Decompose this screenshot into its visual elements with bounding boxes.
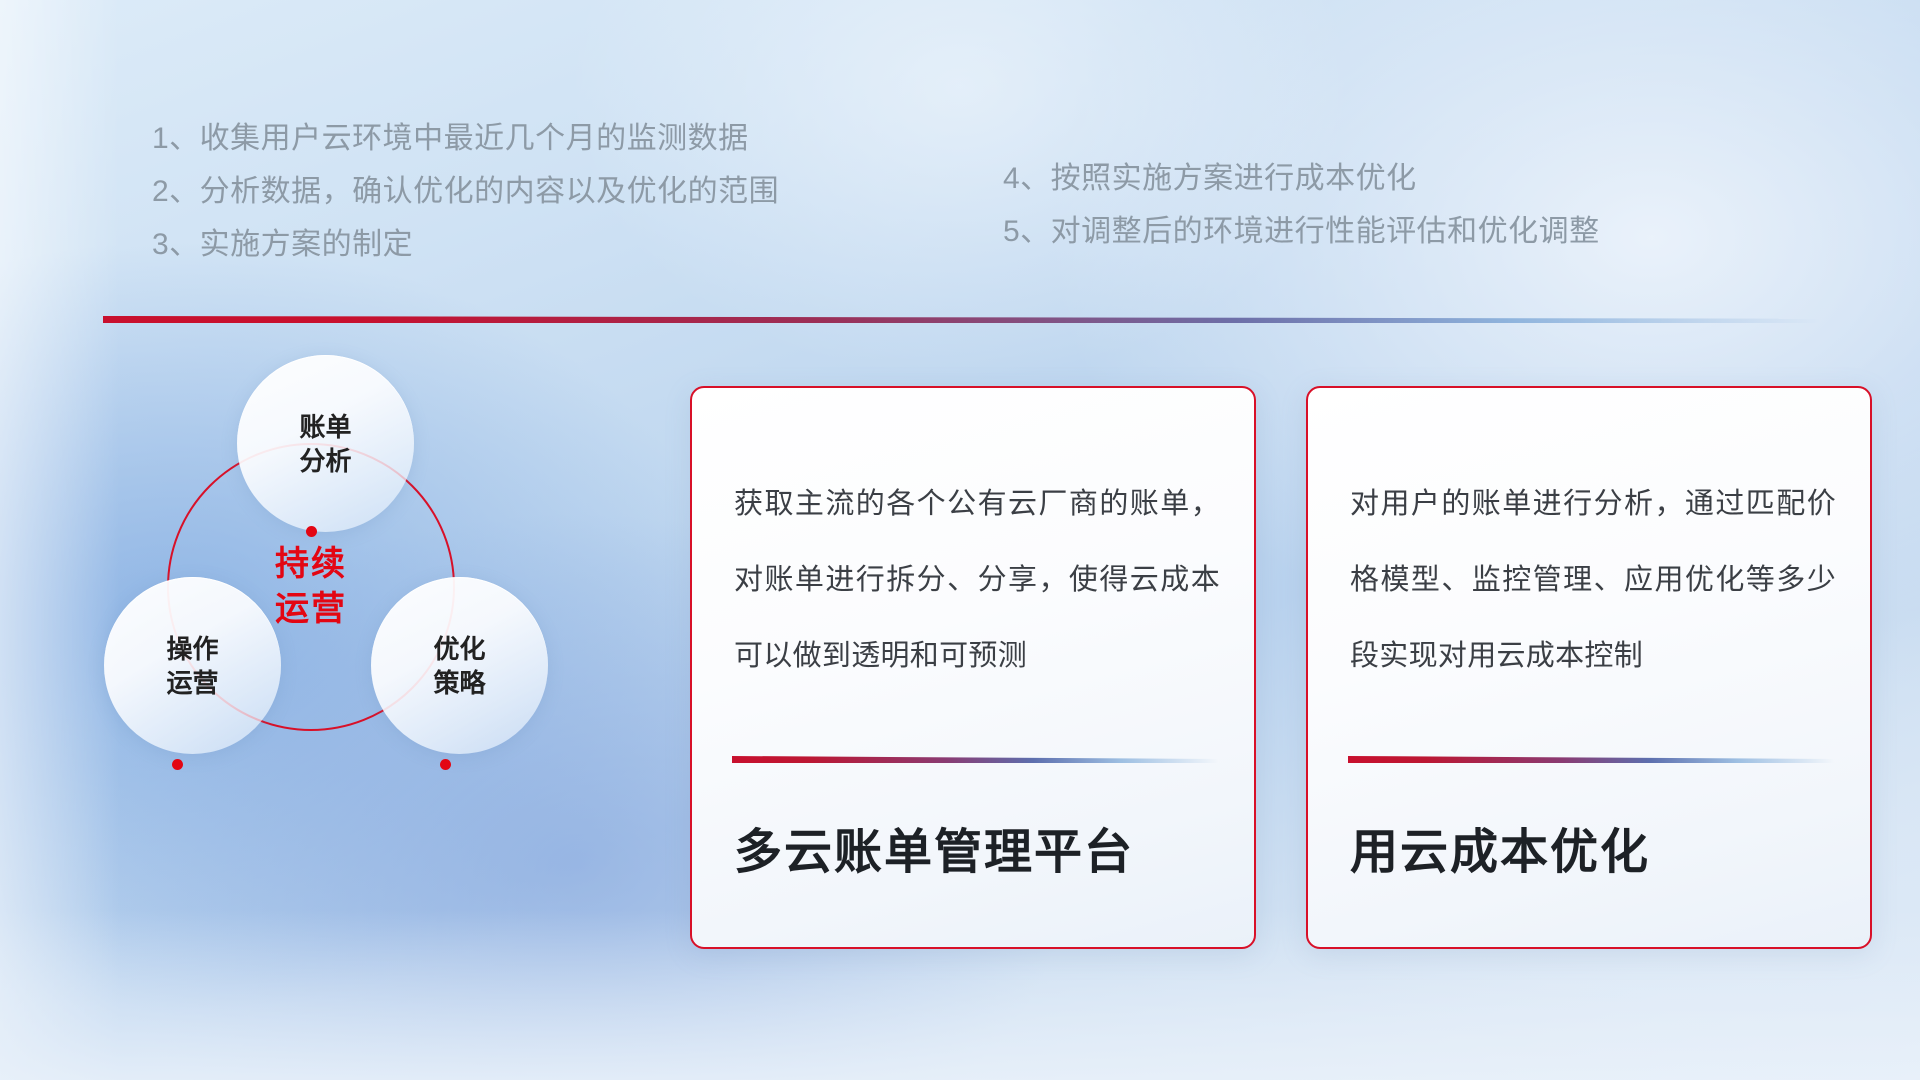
venn-center-label: 持续 运营: [167, 443, 455, 731]
step-item: 2、分析数据，确认优化的内容以及优化的范围: [152, 165, 779, 218]
step-item: 1、收集用户云环境中最近几个月的监测数据: [152, 112, 779, 165]
steps-list-right: 4、按照实施方案进行成本优化 5、对调整后的环境进行性能评估和优化调整: [1003, 152, 1600, 258]
step-item: 3、实施方案的制定: [152, 218, 779, 271]
feature-card-cloud-cost-optimization[interactable]: 对用户的账单进行分析，通过匹配价格模型、监控管理、应用优化等多少段实现对用云成本…: [1306, 386, 1872, 949]
venn-node-dot-bottom-right: [440, 759, 451, 770]
steps-section: 1、收集用户云环境中最近几个月的监测数据 2、分析数据，确认优化的内容以及优化的…: [0, 0, 1920, 300]
step-item: 4、按照实施方案进行成本优化: [1003, 152, 1600, 205]
card-accent-rule: [732, 756, 1218, 763]
card-accent-rule: [1348, 756, 1834, 763]
venn-node-dot-top: [306, 526, 317, 537]
venn-node-dot-bottom-left: [172, 759, 183, 770]
venn-diagram: 账单 分析 操作 运营 优化 策略 持续 运营: [96, 355, 656, 955]
steps-list-left: 1、收集用户云环境中最近几个月的监测数据 2、分析数据，确认优化的内容以及优化的…: [152, 112, 779, 271]
feature-card-multicloud-billing[interactable]: 获取主流的各个公有云厂商的账单，对账单进行拆分、分享，使得云成本可以做到透明和可…: [690, 386, 1256, 949]
card-description: 对用户的账单进行分析，通过匹配价格模型、监控管理、应用优化等多少段实现对用云成本…: [1350, 466, 1836, 694]
card-description: 获取主流的各个公有云厂商的账单，对账单进行拆分、分享，使得云成本可以做到透明和可…: [734, 466, 1220, 694]
card-title: 用云成本优化: [1350, 812, 1850, 882]
step-item: 5、对调整后的环境进行性能评估和优化调整: [1003, 205, 1600, 258]
card-title: 多云账单管理平台: [734, 812, 1234, 882]
